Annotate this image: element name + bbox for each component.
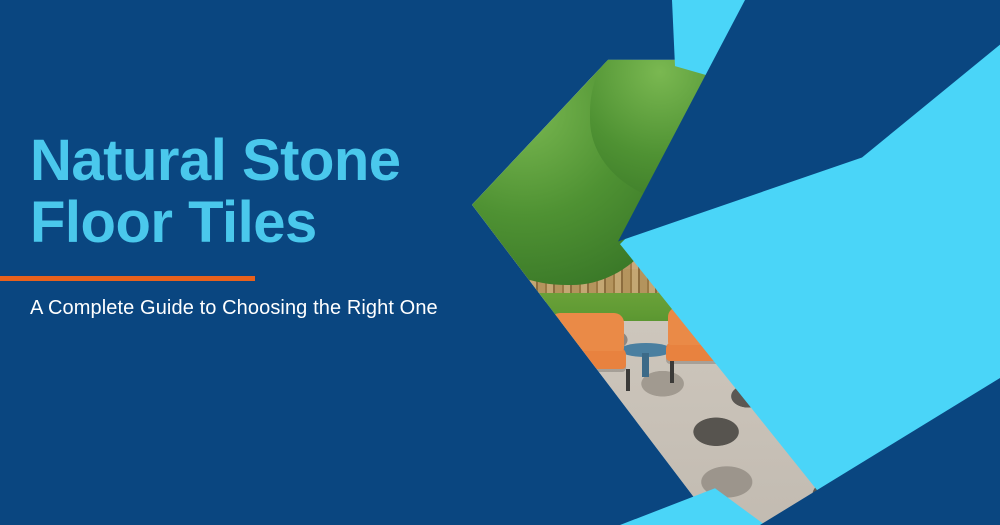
orange-divider — [0, 276, 255, 281]
headline-block: Natural Stone Floor Tiles A Complete Gui… — [30, 130, 500, 320]
side-table — [620, 343, 672, 357]
page-subtitle: A Complete Guide to Choosing the Right O… — [30, 297, 500, 320]
page-title: Natural Stone Floor Tiles — [30, 130, 500, 254]
chair-legs — [552, 369, 630, 391]
chair-back — [550, 313, 624, 351]
hero-banner: Natural Stone Floor Tiles A Complete Gui… — [0, 0, 1000, 525]
patio-chair — [548, 347, 626, 369]
